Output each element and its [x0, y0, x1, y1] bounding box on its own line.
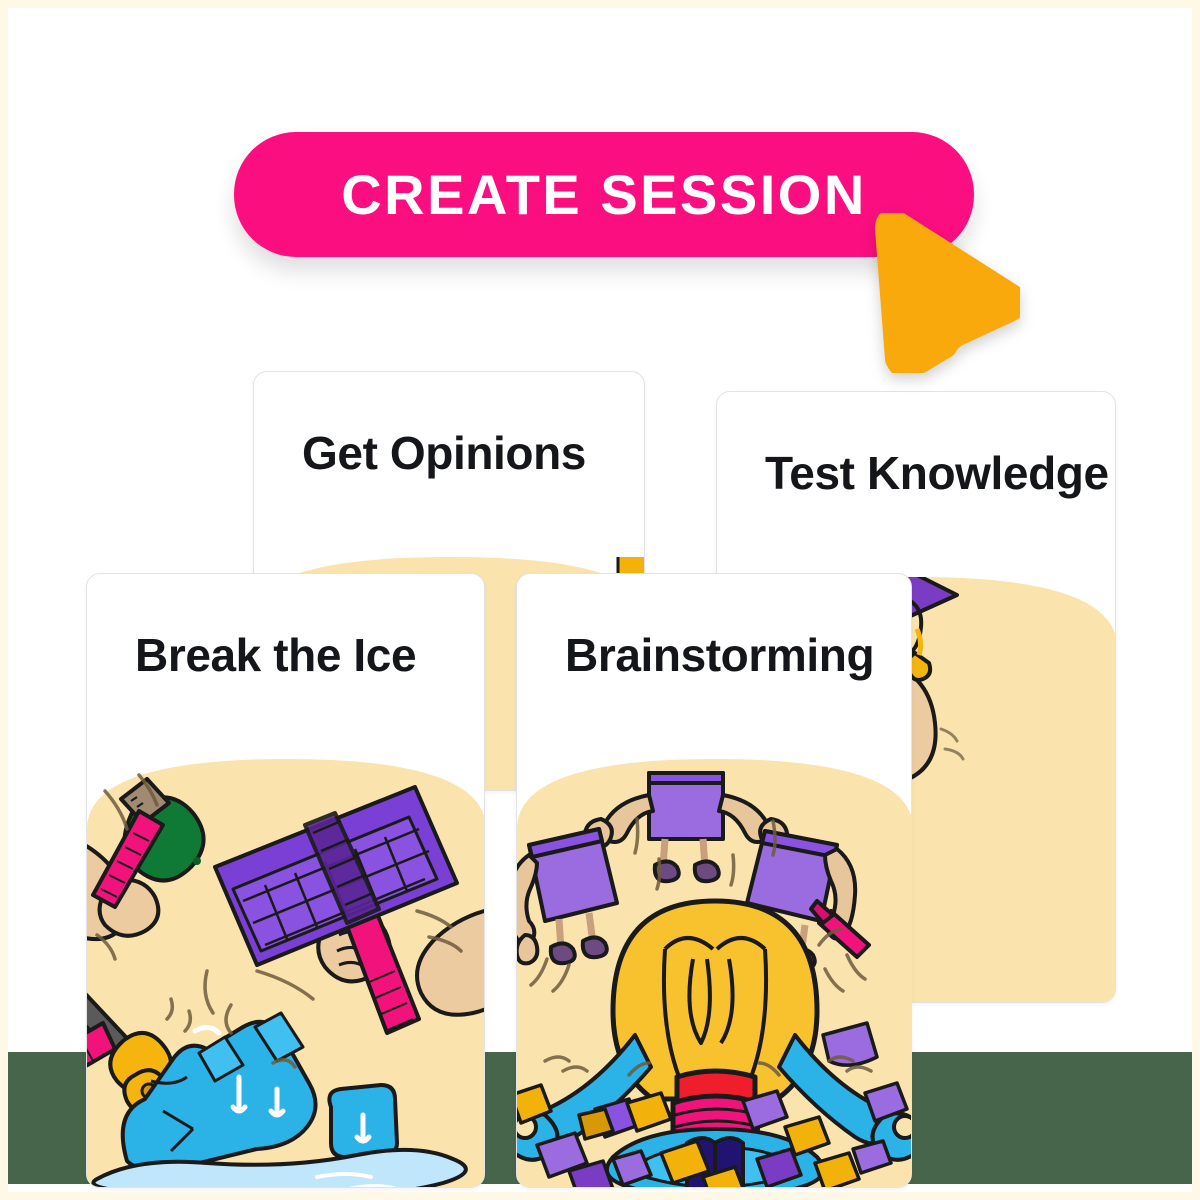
card-title-break-the-ice: Break the Ice: [135, 630, 416, 681]
page-root: Get Opinions: [0, 0, 1200, 1200]
create-session-button[interactable]: CREATE SESSION: [234, 132, 974, 257]
page-canvas: Get Opinions: [8, 8, 1192, 1192]
session-card-brainstorming[interactable]: Brainstorming: [516, 573, 912, 1188]
hands-breaking-ice-illustration: [87, 759, 484, 1188]
card-illustration-break-the-ice: [87, 759, 484, 1188]
session-card-break-the-ice[interactable]: Break the Ice: [86, 573, 485, 1188]
lightbulb-meditation-illustration: [517, 759, 911, 1188]
card-title-brainstorming: Brainstorming: [565, 630, 874, 681]
card-illustration-brainstorming: [517, 759, 911, 1188]
cursor-arrow-icon: [874, 213, 1020, 373]
create-session-label: CREATE SESSION: [341, 167, 867, 223]
card-title-get-opinions: Get Opinions: [302, 428, 586, 479]
card-title-test-knowledge: Test Knowledge: [765, 448, 1109, 499]
